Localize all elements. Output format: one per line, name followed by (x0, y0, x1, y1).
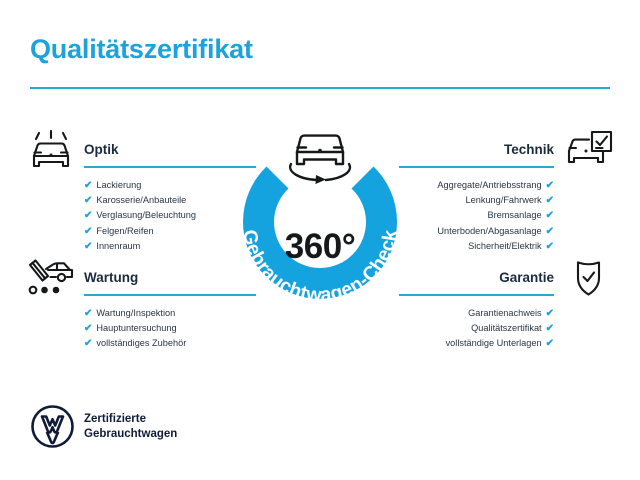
check-icon: ✔ (84, 193, 92, 208)
list-item-label: Karosserie/Anbauteile (96, 195, 186, 205)
check-icon: ✔ (84, 208, 92, 223)
checklist-optik: ✔Lackierung ✔Karosserie/Anbauteile ✔Verg… (84, 178, 196, 254)
list-item: Qualitätszertifikat✔ (446, 321, 554, 336)
section-underline-technik (399, 166, 554, 168)
check-icon: ✔ (546, 336, 554, 351)
checklist-wartung: ✔Wartung/Inspektion ✔Hauptuntersuchung ✔… (84, 306, 186, 352)
list-item: ✔Wartung/Inspektion (84, 306, 186, 321)
list-item: vollständige Unterlagen✔ (446, 336, 554, 351)
list-item-label: Unterboden/Abgasanlage (437, 226, 541, 236)
check-icon: ✔ (84, 178, 92, 193)
list-item-label: Verglasung/Beleuchtung (96, 210, 196, 220)
list-item: Aggregate/Antriebsstrang✔ (437, 178, 554, 193)
car-checkbox-icon (562, 130, 614, 174)
section-garantie: Garantie Garantienachweis✔ Qualitätszert… (380, 258, 614, 378)
footer-line-1: Zertifizierte (84, 412, 177, 427)
check-icon: ✔ (546, 321, 554, 336)
360-check-badge: Gebrauchtwagen-Check 360° (225, 120, 415, 315)
check-icon: ✔ (546, 306, 554, 321)
list-item: Unterboden/Abgasanlage✔ (437, 224, 554, 239)
section-underline-garantie (399, 294, 554, 296)
check-icon: ✔ (546, 224, 554, 239)
check-icon: ✔ (84, 239, 92, 254)
footer-brand: Zertifizierte Gebrauchtwagen (30, 404, 290, 452)
check-icon: ✔ (546, 239, 554, 254)
list-item-label: vollständige Unterlagen (446, 338, 542, 348)
badge-center-label: 360° (285, 227, 355, 266)
service-pen-car-icon (26, 258, 78, 302)
car-shine-icon (26, 130, 78, 174)
checklist-technik: Aggregate/Antriebsstrang✔ Lenkung/Fahrwe… (437, 178, 554, 254)
car-rotation-icon (290, 136, 350, 184)
section-title-technik: Technik (504, 142, 554, 157)
list-item-label: Garantienachweis (468, 308, 542, 318)
check-icon: ✔ (546, 178, 554, 193)
list-item-label: Hauptuntersuchung (96, 323, 176, 333)
vw-logo (30, 404, 75, 449)
check-icon: ✔ (546, 208, 554, 223)
page-title: Qualitätszertifikat (30, 34, 253, 65)
check-icon: ✔ (84, 306, 92, 321)
list-item: ✔Hauptuntersuchung (84, 321, 186, 336)
list-item-label: Bremsanlage (487, 210, 541, 220)
list-item: ✔vollständiges Zubehör (84, 336, 186, 351)
check-icon: ✔ (84, 224, 92, 239)
header-divider (30, 87, 610, 89)
list-item: ✔Verglasung/Beleuchtung (84, 208, 196, 223)
check-icon: ✔ (84, 321, 92, 336)
section-title-optik: Optik (84, 142, 119, 157)
list-item-label: Sicherheit/Elektrik (468, 241, 542, 251)
list-item: ✔Lackierung (84, 178, 196, 193)
check-icon: ✔ (84, 336, 92, 351)
list-item-label: vollständiges Zubehör (96, 338, 186, 348)
list-item-label: Qualitätszertifikat (471, 323, 541, 333)
list-item-label: Wartung/Inspektion (96, 308, 175, 318)
list-item: ✔Karosserie/Anbauteile (84, 193, 196, 208)
list-item: Bremsanlage✔ (437, 208, 554, 223)
list-item-label: Aggregate/Antriebsstrang (437, 180, 541, 190)
list-item: ✔Felgen/Reifen (84, 224, 196, 239)
list-item-label: Lenkung/Fahrwerk (466, 195, 542, 205)
list-item: ✔Innenraum (84, 239, 196, 254)
list-item: Sicherheit/Elektrik✔ (437, 239, 554, 254)
list-item-label: Felgen/Reifen (96, 226, 153, 236)
footer-brand-text: Zertifizierte Gebrauchtwagen (84, 412, 177, 442)
section-technik: Technik Aggregate/Antriebsstrang✔ Lenkun… (380, 130, 614, 250)
list-item: Lenkung/Fahrwerk✔ (437, 193, 554, 208)
footer-line-2: Gebrauchtwagen (84, 427, 177, 442)
list-item-label: Innenraum (96, 241, 140, 251)
check-icon: ✔ (546, 193, 554, 208)
quality-certificate-page: Qualitätszertifikat Opt (0, 0, 640, 480)
checklist-garantie: Garantienachweis✔ Qualitätszertifikat✔ v… (446, 306, 554, 352)
section-title-wartung: Wartung (84, 270, 138, 285)
section-title-garantie: Garantie (499, 270, 554, 285)
list-item: Garantienachweis✔ (446, 306, 554, 321)
list-item-label: Lackierung (96, 180, 141, 190)
shield-check-icon (562, 258, 614, 302)
